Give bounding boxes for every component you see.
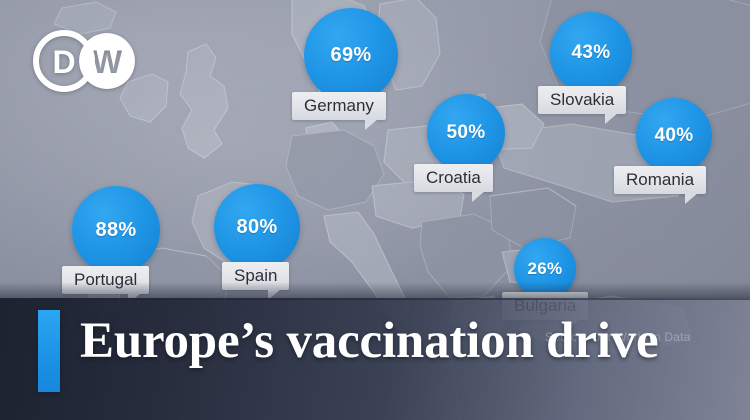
country-label-croatia: Croatia [414, 164, 493, 192]
value-text-spain: 80% [237, 216, 278, 239]
value-text-germany: 69% [331, 44, 372, 67]
value-bubble-romania: 40% [636, 98, 712, 174]
value-text-romania: 40% [655, 125, 694, 147]
dw-logo: D W [33, 30, 138, 92]
value-bubble-slovakia: 43% [550, 12, 632, 94]
broadcast-graphic: D W 69% Germany 43% Slovakia 50% [0, 0, 750, 420]
value-text-bulgaria: 26% [528, 259, 563, 279]
svg-text:D: D [52, 44, 75, 80]
value-text-portugal: 88% [96, 219, 137, 242]
value-bubble-portugal: 88% [72, 186, 160, 274]
country-label-romania: Romania [614, 166, 706, 194]
value-text-croatia: 50% [447, 122, 486, 144]
country-label-slovakia: Slovakia [538, 86, 626, 114]
value-bubble-croatia: 50% [427, 94, 505, 172]
value-text-slovakia: 43% [572, 42, 611, 64]
value-bubble-germany: 69% [304, 8, 398, 102]
value-bubble-spain: 80% [214, 184, 300, 270]
headline-accent-bar [38, 310, 60, 392]
country-label-germany: Germany [292, 92, 386, 120]
page-title: Europe’s vaccination drive [80, 312, 658, 370]
